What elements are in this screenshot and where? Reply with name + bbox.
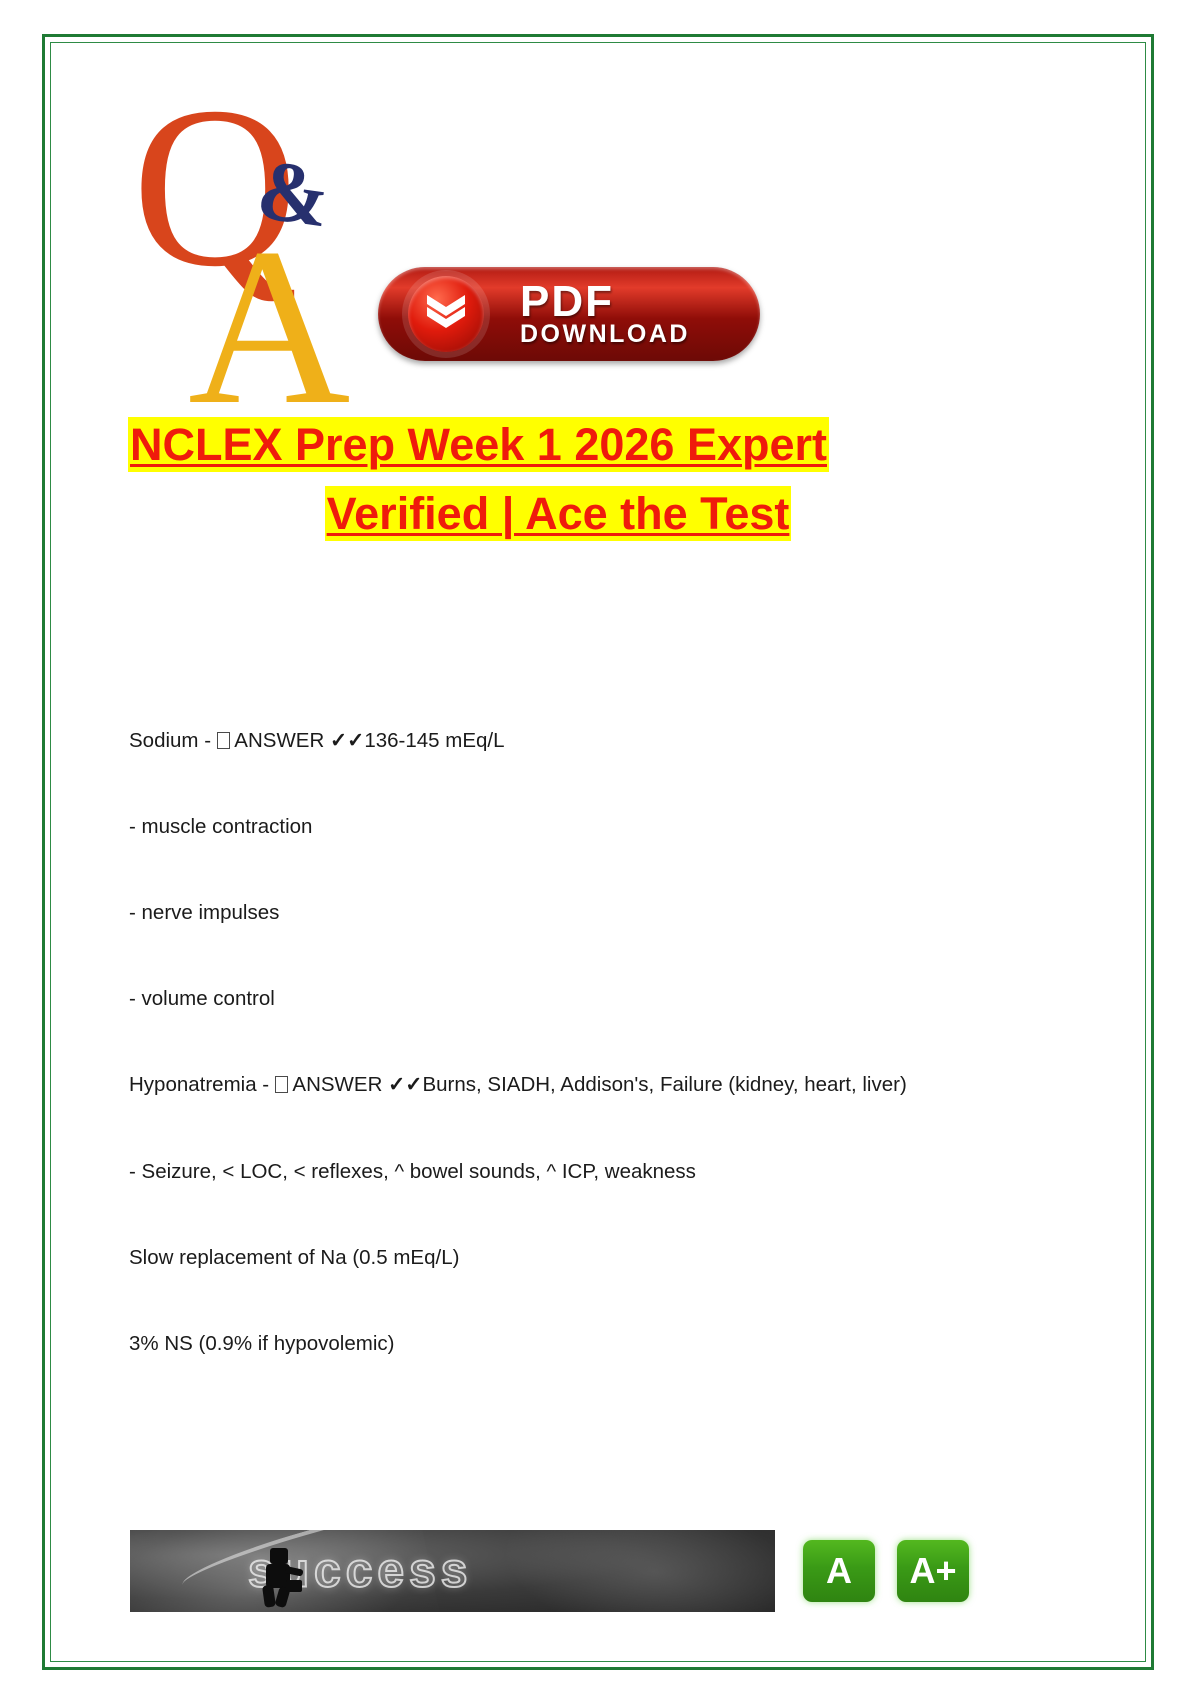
bullet-seizure-signs: - Seizure, < LOC, < reflexes, ^ bowel so… [129, 1157, 974, 1186]
pdf-download-button[interactable]: PDF DOWNLOAD [378, 267, 760, 361]
pdf-button-line2: DOWNLOAD [520, 323, 690, 346]
sodium-prefix: Sodium - [129, 729, 217, 752]
title-line-2-text: Verified | Ace the Test [325, 486, 792, 541]
grade-badge-a-plus: A+ [897, 1540, 969, 1602]
missing-glyph-icon [275, 1076, 288, 1093]
body-content: Sodium - ANSWER ✓✓136-145 mEq/L - muscle… [129, 726, 974, 1415]
title-line-2: Verified | Ace the Test [128, 487, 988, 542]
qa-item-sodium: Sodium - ANSWER ✓✓136-145 mEq/L [129, 726, 974, 755]
qa-logo: Q & A [132, 72, 362, 402]
sodium-middle: ANSWER [230, 729, 330, 752]
pdf-button-line1: PDF [520, 282, 690, 322]
document-page: Q & A PDF DOWNLOAD NCLEX Prep Week 1 202… [0, 0, 1200, 1700]
hyponatremia-middle: ANSWER [288, 1073, 388, 1096]
line-slow-replacement: Slow replacement of Na (0.5 mEq/L) [129, 1243, 974, 1272]
grade-badges: A A+ [803, 1540, 969, 1602]
success-banner-image: success [130, 1530, 775, 1612]
title-line-1-text: NCLEX Prep Week 1 2026 Expert [128, 417, 829, 472]
line-ns-concentration: 3% NS (0.9% if hypovolemic) [129, 1329, 974, 1358]
grade-badge-a: A [803, 1540, 875, 1602]
pdf-button-label: PDF DOWNLOAD [520, 282, 690, 345]
hyponatremia-ticks: ✓✓ [388, 1073, 422, 1096]
footer-bar: success A A+ [130, 1528, 980, 1614]
sodium-answer: 136-145 mEq/L [364, 729, 504, 752]
bullet-muscle-contraction: - muscle contraction [129, 812, 974, 841]
download-chevrons-icon [408, 276, 484, 352]
page-title: NCLEX Prep Week 1 2026 Expert Verified |… [128, 418, 988, 556]
logo-letter-a: A [188, 214, 351, 439]
missing-glyph-icon [217, 732, 230, 749]
bullet-volume-control: - volume control [129, 984, 974, 1013]
qa-item-hyponatremia: Hyponatremia - ANSWER ✓✓Burns, SIADH, Ad… [129, 1070, 974, 1099]
sodium-ticks: ✓✓ [330, 729, 364, 752]
hyponatremia-answer: Burns, SIADH, Addison's, Failure (kidney… [422, 1073, 906, 1096]
climber-silhouette-icon [252, 1546, 306, 1610]
chalk-smudge [495, 1530, 775, 1612]
title-line-1: NCLEX Prep Week 1 2026 Expert [128, 418, 988, 473]
hyponatremia-prefix: Hyponatremia - [129, 1073, 275, 1096]
bullet-nerve-impulses: - nerve impulses [129, 898, 974, 927]
